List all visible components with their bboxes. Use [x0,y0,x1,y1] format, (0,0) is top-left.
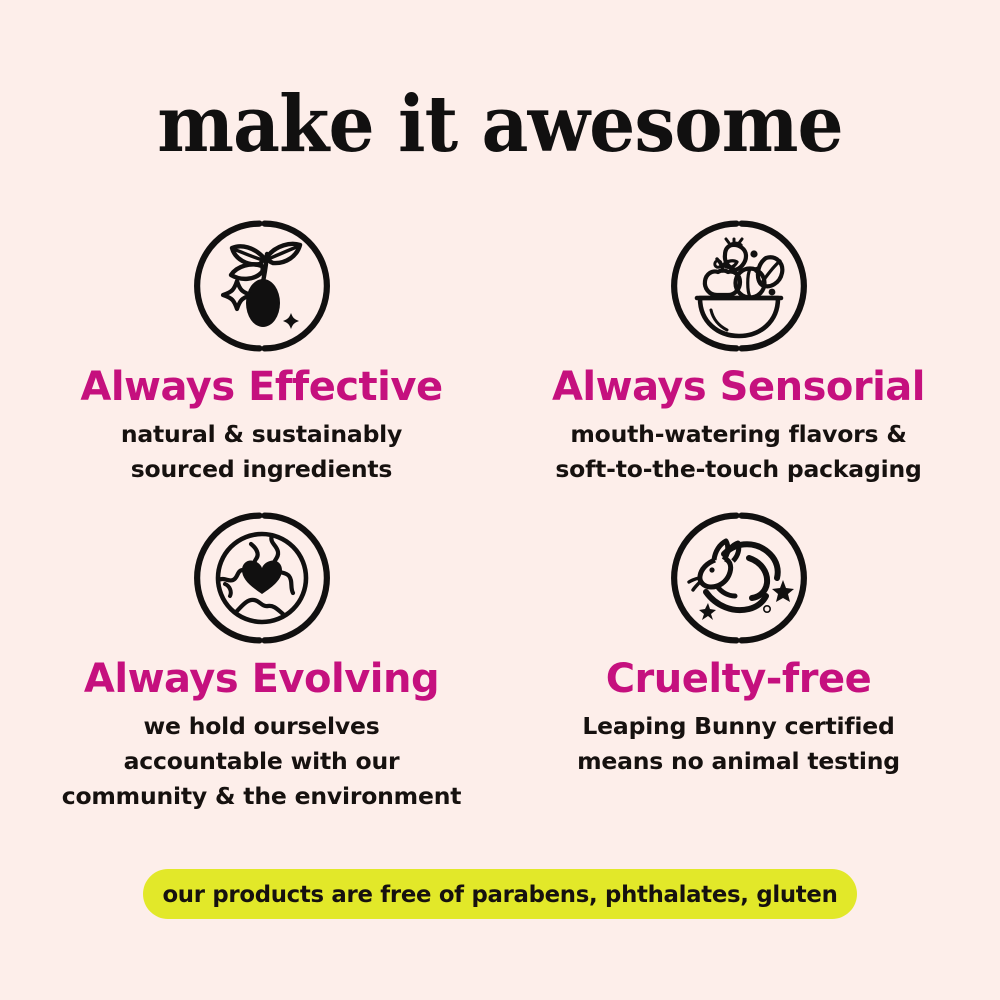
feature-title: Always Sensorial [552,366,925,408]
feature-card-always-evolving: Always Evolving we hold ourselves accoun… [28,510,495,815]
page-headline: make it awesome [35,86,965,164]
free-of-banner-text: our products are free of parabens, phtha… [162,880,837,908]
feature-title: Always Effective [80,366,442,408]
feature-description: mouth-watering flavors & soft-to-the-tou… [555,417,921,488]
globe-heart-icon [194,510,330,646]
feature-card-always-effective: Always Effective natural & sustainably s… [28,218,495,488]
feature-description: natural & sustainably sourced ingredient… [121,417,402,488]
feature-description: Leaping Bunny certified means no animal … [577,709,900,780]
free-of-banner: our products are free of parabens, phtha… [143,869,857,919]
fruit-bowl-icon [671,218,807,354]
feature-card-always-sensorial: Always Sensorial mouth-watering flavors … [505,218,972,488]
leaping-bunny-icon [671,510,807,646]
feature-title: Cruelty-free [606,658,872,700]
feature-description: we hold ourselves accountable with our c… [62,709,462,815]
feature-card-cruelty-free: Cruelty-free Leaping Bunny certified mea… [505,510,972,815]
feature-grid: Always Effective natural & sustainably s… [28,218,972,814]
feature-title: Always Evolving [84,658,439,700]
promo-graphic: make it awesome [0,0,1000,1000]
olive-branch-sparkle-icon [194,218,330,354]
